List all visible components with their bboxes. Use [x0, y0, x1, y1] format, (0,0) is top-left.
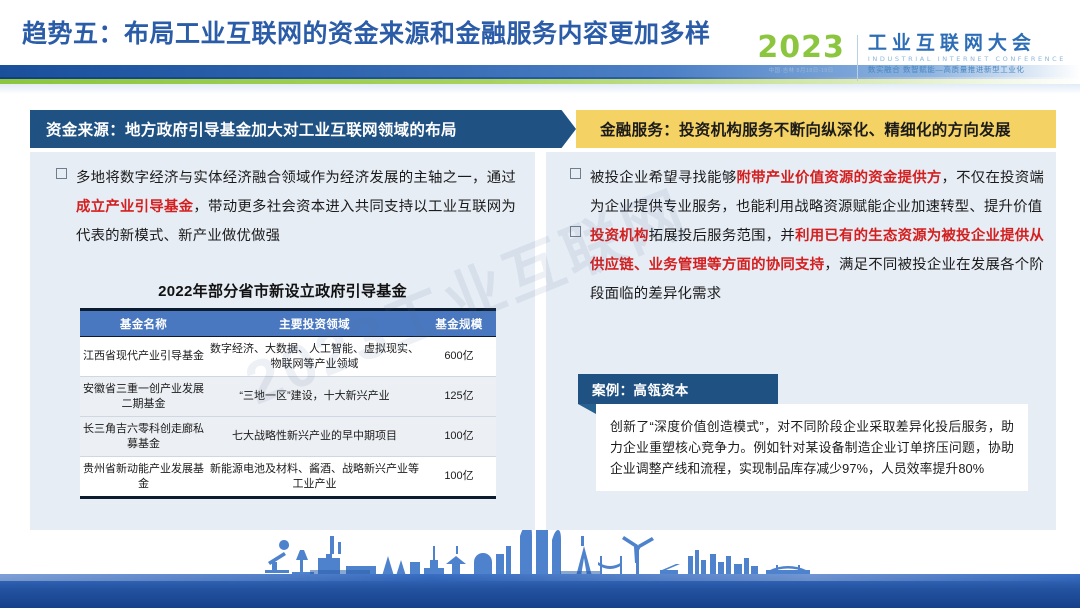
table-row: 长三角吉六零科创走廊私募基金 七大战略性新兴产业的早中期项目 100亿 — [80, 417, 496, 457]
conference-logo: 2023 中国·吉林 8月18日-19日 工业互联网大会 INDUSTRIAL … — [757, 33, 1066, 87]
right-bullet-2-highlight-1: 投资机构 — [590, 228, 649, 244]
left-bullet-part1: 多地将数字经济与实体经济融合领域作为经济发展的主轴之一，通过 — [76, 170, 516, 186]
table-cell-name: 贵州省新动能产业发展基金 — [80, 457, 207, 498]
table-cell-name: 江西省现代产业引导基金 — [80, 337, 207, 377]
case-study-body: 创新了“深度价值创造模式”，对不同阶段企业采取差异化投后服务，助力企业重塑核心竞… — [596, 404, 1028, 491]
left-bullet-highlight: 成立产业引导基金 — [76, 199, 193, 215]
table-cell-name: 安徽省三重一创产业发展二期基金 — [80, 377, 207, 417]
table-header-row: 基金名称 主要投资领域 基金规模 — [80, 310, 496, 337]
left-panel: 多地将数字经济与实体经济融合领域作为经济发展的主轴之一，通过成立产业引导基金，带… — [30, 152, 535, 534]
page-title: 趋势五：布局工业互联网的资金来源和金融服务内容更加多样 — [22, 14, 711, 50]
logo-en-name: INDUSTRIAL INTERNET CONFERENCE — [868, 54, 1066, 64]
right-bullet-1-highlight: 附带产业价值资源的资金提供方 — [736, 170, 941, 186]
banner-arrow-icon — [538, 110, 576, 148]
table-row: 江西省现代产业引导基金 数字经济、大数据、人工智能、虚拟现实、物联网等产业领域 … — [80, 337, 496, 377]
logo-cn-name: 工业互联网大会 — [868, 33, 1066, 54]
table-cell-field: “三地一区”建设，十大新兴产业 — [207, 377, 422, 417]
table-cell-field: 七大战略性新兴产业的早中期项目 — [207, 417, 422, 457]
case-tab-fold-icon — [578, 404, 596, 414]
table-row: 贵州省新动能产业发展基金 新能源电池及材料、酱酒、战略新兴产业等工业产业 100… — [80, 457, 496, 498]
right-bullet-1-part1: 被投企业希望寻找能够 — [590, 170, 736, 186]
banner-financial-service: 金融服务：投资机构服务不断向纵深化、精细化的方向发展 — [576, 110, 1056, 148]
logo-name-block: 工业互联网大会 INDUSTRIAL INTERNET CONFERENCE 数… — [868, 33, 1066, 75]
fund-table-wrap: 基金名称 主要投资领域 基金规模 江西省现代产业引导基金 数字经济、大数据、人工… — [80, 308, 490, 499]
fund-table: 基金名称 主要投资领域 基金规模 江西省现代产业引导基金 数字经济、大数据、人工… — [80, 308, 496, 499]
table-cell-field: 新能源电池及材料、酱酒、战略新兴产业等工业产业 — [207, 457, 422, 498]
table-cell-scale: 100亿 — [422, 457, 496, 498]
logo-year-block: 2023 中国·吉林 8月18日-19日 — [757, 33, 857, 74]
bullet-square-icon — [570, 168, 581, 179]
case-study-tab: 案例：高瓴资本 — [578, 374, 778, 404]
case-study-text: 创新了“深度价值创造模式”，对不同阶段企业采取差异化投后服务，助力企业重塑核心竞… — [610, 416, 1014, 479]
right-bullet-2-paragraph: 投资机构拓展投后服务范围，并利用已有的生态资源为被投企业提供从供应链、业务管理等… — [590, 222, 1044, 309]
right-panel: 被投企业希望寻找能够附带产业价值资源的资金提供方，不仅在投资端为企业提供专业服务… — [546, 152, 1056, 534]
case-study-box: 案例：高瓴资本 创新了“深度价值创造模式”，对不同阶段企业采取差异化投后服务，助… — [578, 374, 1028, 491]
logo-year-text: 2023 — [757, 33, 845, 63]
right-bullet-item-2: 投资机构拓展投后服务范围，并利用已有的生态资源为被投企业提供从供应链、业务管理等… — [560, 222, 1044, 309]
table-cell-scale: 600亿 — [422, 337, 496, 377]
city-skyline-icon — [0, 530, 1080, 578]
logo-slogan: 数实融合 数智赋能—高质量推进新型工业化 — [868, 64, 1066, 75]
case-study-tab-label: 案例：高瓴资本 — [592, 379, 689, 399]
table-cell-field: 数字经济、大数据、人工智能、虚拟现实、物联网等产业领域 — [207, 337, 422, 377]
table-col-header-field: 主要投资领域 — [207, 310, 422, 337]
table-cell-name: 长三角吉六零科创走廊私募基金 — [80, 417, 207, 457]
table-cell-scale: 100亿 — [422, 417, 496, 457]
logo-date-text: 中国·吉林 8月18日-19日 — [757, 66, 845, 74]
table-title: 2022年部分省市新设立政府引导基金 — [30, 280, 535, 301]
right-bullet-2-part1: 拓展投后服务范围，并 — [649, 228, 795, 244]
logo-divider — [857, 35, 858, 81]
banner-funding-source: 资金来源：地方政府引导基金加大对工业互联网领域的布局 — [30, 110, 538, 148]
footer-decoration — [0, 530, 1080, 608]
banner-funding-source-label: 资金来源：地方政府引导基金加大对工业互联网领域的布局 — [46, 118, 457, 140]
bullet-square-icon — [56, 168, 67, 179]
slide-root: 趋势五：布局工业互联网的资金来源和金融服务内容更加多样 2023 中国·吉林 8… — [0, 0, 1080, 608]
slide-header: 趋势五：布局工业互联网的资金来源和金融服务内容更加多样 2023 中国·吉林 8… — [0, 0, 1080, 92]
right-text-block: 被投企业希望寻找能够附带产业价值资源的资金提供方，不仅在投资端为企业提供专业服务… — [560, 164, 1044, 309]
table-col-header-name: 基金名称 — [80, 310, 207, 337]
left-bullet-item: 多地将数字经济与实体经济融合领域作为经济发展的主轴之一，通过成立产业引导基金，带… — [46, 164, 516, 251]
table-col-header-scale: 基金规模 — [422, 310, 496, 337]
banner-financial-service-label: 金融服务：投资机构服务不断向纵深化、精细化的方向发展 — [600, 118, 1011, 140]
left-bullet-paragraph: 多地将数字经济与实体经济融合领域作为经济发展的主轴之一，通过成立产业引导基金，带… — [76, 164, 516, 251]
footer-water — [0, 574, 1080, 608]
right-bullet-1-paragraph: 被投企业希望寻找能够附带产业价值资源的资金提供方，不仅在投资端为企业提供专业服务… — [590, 164, 1044, 222]
section-banner-row: 资金来源：地方政府引导基金加大对工业互联网领域的布局 金融服务：投资机构服务不断… — [30, 110, 1056, 148]
right-bullet-item-1: 被投企业希望寻找能够附带产业价值资源的资金提供方，不仅在投资端为企业提供专业服务… — [560, 164, 1044, 222]
table-cell-scale: 125亿 — [422, 377, 496, 417]
bullet-square-icon — [570, 226, 581, 237]
table-row: 安徽省三重一创产业发展二期基金 “三地一区”建设，十大新兴产业 125亿 — [80, 377, 496, 417]
